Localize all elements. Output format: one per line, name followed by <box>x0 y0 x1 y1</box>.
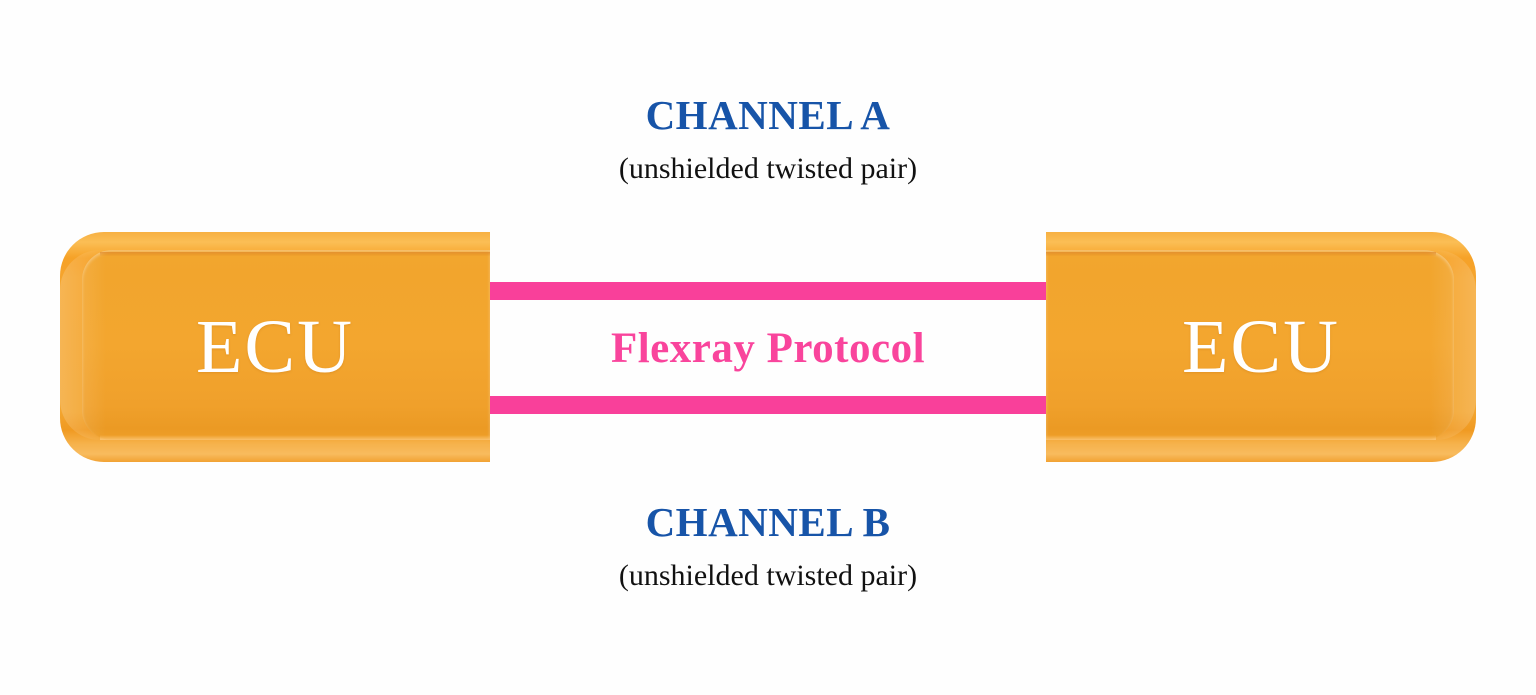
channel-b-label-group: CHANNEL B (unshielded twisted pair) <box>0 502 1536 591</box>
protocol-label-area: Flexray Protocol <box>490 300 1046 396</box>
ecu-node-right: ECU <box>1046 232 1476 462</box>
channel-a-title: CHANNEL A <box>0 95 1536 136</box>
flexray-diagram-canvas: CHANNEL A (unshielded twisted pair) ECU … <box>0 0 1536 695</box>
bus-wire-b <box>490 396 1046 414</box>
bus-wire-a <box>490 282 1046 300</box>
channel-a-label-group: CHANNEL A (unshielded twisted pair) <box>0 95 1536 184</box>
protocol-name: Flexray Protocol <box>611 324 925 373</box>
bus-line-channel-a <box>490 282 1046 300</box>
channel-b-title: CHANNEL B <box>0 502 1536 543</box>
ecu-node-left: ECU <box>60 232 490 462</box>
ecu-left-label: ECU <box>60 232 490 462</box>
channel-a-subtitle: (unshielded twisted pair) <box>0 154 1536 184</box>
bus-line-channel-b <box>490 396 1046 414</box>
ecu-right-label: ECU <box>1046 232 1476 462</box>
channel-b-subtitle: (unshielded twisted pair) <box>0 561 1536 591</box>
